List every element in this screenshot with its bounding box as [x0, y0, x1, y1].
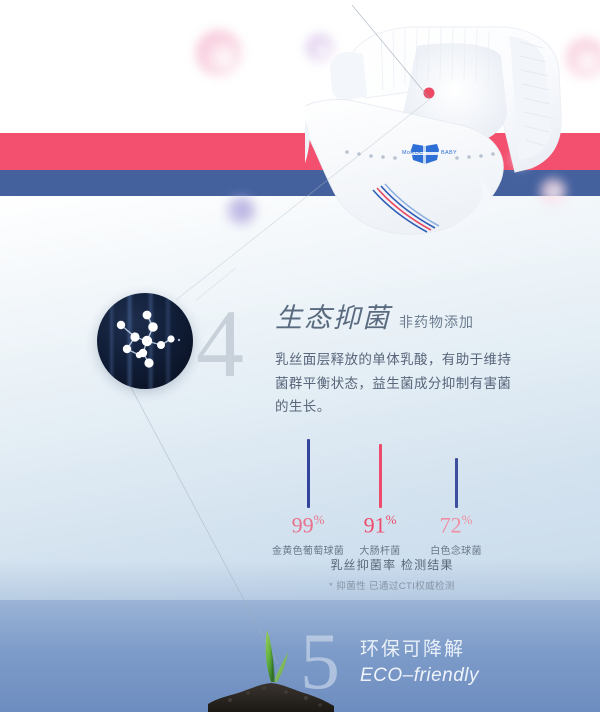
chart-caption: 乳丝抑菌率 检测结果 * 抑菌性 已通过CTI权威检测 — [272, 556, 512, 592]
chart-bar — [455, 458, 458, 508]
feature-body-text: 乳丝面层释放的单体乳酸，有助于维持菌群平衡状态，益生菌成分抑制有害菌的生长。 — [275, 348, 525, 419]
svg-text:BABY: BABY — [441, 150, 457, 156]
chart-column: 91%大肠杆菌 — [344, 432, 416, 557]
eco-title-en: ECO–friendly — [360, 663, 479, 689]
eco-text-block: 环保可降解 ECO–friendly — [360, 637, 479, 688]
chart-column: 72%白色念球菌 — [420, 432, 492, 557]
feature-heading: 生态抑菌 — [275, 296, 391, 335]
chart-unit: % — [386, 512, 397, 527]
chart-value-label: 91% — [344, 513, 416, 536]
chart-value-label: 99% — [272, 513, 344, 536]
chart-note: * 抑菌性 已通过CTI权威检测 — [272, 578, 512, 592]
chart-title: 乳丝抑菌率 检测结果 — [272, 556, 512, 573]
chart-bar — [307, 439, 310, 508]
antibacterial-bar-chart: 99%金黄色葡萄球菌91%大肠杆菌72%白色念球菌 — [272, 432, 512, 542]
svg-text:MoROC: MoROC — [402, 150, 423, 156]
chart-unit: % — [314, 512, 325, 527]
chart-unit: % — [462, 512, 473, 527]
feature-number-4: 4 — [196, 296, 244, 392]
decorative-bubble-violet-band — [226, 196, 256, 226]
chart-bar-track — [420, 432, 492, 508]
decorative-bubble-pink-large — [196, 30, 242, 76]
diaper-product-photo: MoROC BABY — [305, 0, 600, 239]
chart-column: 99%金黄色葡萄球菌 — [272, 432, 344, 557]
eco-title-cn: 环保可降解 — [360, 637, 479, 663]
feature-heading-row: 生态抑菌 非药物添加 — [275, 296, 474, 335]
product-detail-page: MoROC BABY — [0, 0, 600, 712]
molecule-icon — [97, 293, 193, 389]
sprout-plant-icon — [250, 622, 300, 684]
feature-subheading: 非药物添加 — [399, 312, 474, 332]
chart-value-label: 72% — [420, 513, 492, 536]
chart-bar-track — [344, 432, 416, 508]
chart-bar — [379, 444, 382, 508]
chart-bar-track — [272, 432, 344, 508]
product-marker-dot — [424, 88, 435, 99]
